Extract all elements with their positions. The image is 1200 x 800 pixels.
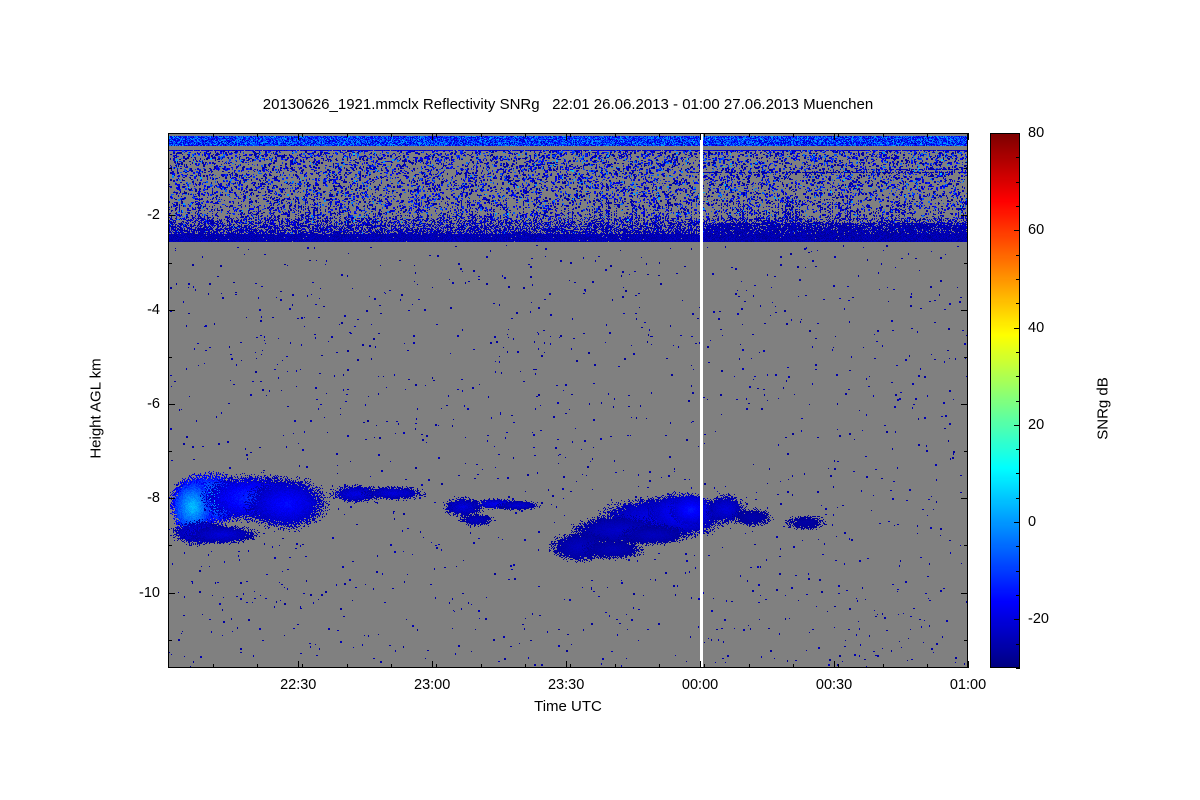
x-minor-tick — [570, 133, 571, 137]
y-minor-tick — [168, 357, 172, 358]
colorbar-minor-tick — [1016, 546, 1020, 547]
y-major-tick — [168, 215, 175, 216]
x-minor-tick — [883, 133, 884, 137]
colorbar-minor-tick — [1016, 279, 1020, 280]
y-minor-tick — [168, 451, 172, 452]
x-minor-tick — [570, 664, 571, 668]
colorbar-label: SNRg dB — [1095, 309, 1112, 509]
x-major-tick — [834, 661, 835, 668]
x-minor-tick — [347, 664, 348, 668]
y-major-tick — [961, 498, 968, 499]
y-major-tick — [961, 215, 968, 216]
colorbar-minor-tick — [1016, 376, 1020, 377]
x-tick-label: 00:30 — [816, 677, 852, 693]
y-minor-tick — [964, 263, 968, 264]
x-major-tick — [968, 133, 969, 140]
x-minor-tick — [257, 133, 258, 137]
x-major-tick — [700, 661, 701, 668]
colorbar-tick-label: 60 — [1028, 222, 1044, 238]
plot-area[interactable] — [168, 133, 968, 668]
colorbar-minor-tick — [1016, 449, 1020, 450]
y-minor-tick — [964, 451, 968, 452]
colorbar-minor-tick — [1016, 498, 1020, 499]
x-minor-tick — [615, 133, 616, 137]
x-axis-label: Time UTC — [168, 698, 968, 715]
x-minor-tick — [391, 664, 392, 668]
x-minor-tick — [391, 133, 392, 137]
colorbar-minor-tick — [1016, 303, 1020, 304]
x-minor-tick — [436, 664, 437, 668]
x-minor-tick — [927, 664, 928, 668]
x-major-tick — [566, 661, 567, 668]
y-minor-tick — [964, 168, 968, 169]
y-minor-tick — [964, 357, 968, 358]
x-tick-label: 01:00 — [950, 677, 986, 693]
x-minor-tick — [168, 664, 169, 668]
y-minor-tick — [168, 263, 172, 264]
colorbar-minor-tick — [1016, 595, 1020, 596]
x-major-tick — [700, 133, 701, 140]
colorbar-major-tick — [1014, 619, 1020, 620]
x-major-tick — [432, 661, 433, 668]
y-minor-tick — [168, 640, 172, 641]
x-minor-tick — [436, 133, 437, 137]
x-major-tick — [834, 133, 835, 140]
page-title: 20130626_1921.mmclx Reflectivity SNRg 22… — [168, 96, 968, 113]
x-minor-tick — [838, 664, 839, 668]
x-major-tick — [432, 133, 433, 140]
colorbar-minor-tick — [1016, 401, 1020, 402]
colorbar-minor-tick — [1016, 644, 1020, 645]
x-minor-tick — [927, 133, 928, 137]
colorbar-tick-label: 20 — [1028, 417, 1044, 433]
x-tick-label: 23:00 — [414, 677, 450, 693]
colorbar-minor-tick — [1016, 182, 1020, 183]
y-major-tick — [168, 498, 175, 499]
x-tick-label: 23:30 — [548, 677, 584, 693]
x-major-tick — [298, 661, 299, 668]
x-minor-tick — [302, 133, 303, 137]
reflectivity-heatmap — [169, 134, 968, 668]
y-tick-label: -2 — [116, 207, 160, 223]
colorbar-major-tick — [1014, 522, 1020, 523]
x-minor-tick — [525, 664, 526, 668]
y-axis-label: Height AGL km — [88, 309, 105, 509]
colorbar-minor-tick — [1016, 352, 1020, 353]
colorbar-minor-tick — [1016, 206, 1020, 207]
x-minor-tick — [659, 133, 660, 137]
y-minor-tick — [168, 168, 172, 169]
x-minor-tick — [481, 664, 482, 668]
colorbar-minor-tick — [1016, 571, 1020, 572]
x-minor-tick — [883, 664, 884, 668]
y-tick-label: -10 — [116, 585, 160, 601]
x-minor-tick — [257, 664, 258, 668]
y-major-tick — [168, 310, 175, 311]
x-tick-label: 00:00 — [682, 677, 718, 693]
y-major-tick — [961, 310, 968, 311]
y-major-tick — [961, 404, 968, 405]
x-tick-label: 22:30 — [280, 677, 316, 693]
radar-figure: 20130626_1921.mmclx Reflectivity SNRg 22… — [0, 0, 1200, 800]
y-major-tick — [168, 593, 175, 594]
x-minor-tick — [213, 133, 214, 137]
x-minor-tick — [481, 133, 482, 137]
x-major-tick — [968, 661, 969, 668]
x-minor-tick — [168, 133, 169, 137]
x-minor-tick — [704, 133, 705, 137]
y-major-tick — [168, 404, 175, 405]
colorbar-minor-tick — [1016, 473, 1020, 474]
x-minor-tick — [749, 664, 750, 668]
x-minor-tick — [793, 664, 794, 668]
colorbar-minor-tick — [1016, 255, 1020, 256]
x-minor-tick — [213, 664, 214, 668]
x-minor-tick — [659, 664, 660, 668]
x-major-tick — [298, 133, 299, 140]
x-minor-tick — [704, 664, 705, 668]
x-minor-tick — [749, 133, 750, 137]
x-minor-tick — [793, 133, 794, 137]
x-minor-tick — [302, 664, 303, 668]
x-minor-tick — [347, 133, 348, 137]
colorbar-minor-tick — [1016, 157, 1020, 158]
y-tick-label: -4 — [116, 302, 160, 318]
y-minor-tick — [964, 545, 968, 546]
x-minor-tick — [615, 664, 616, 668]
colorbar-major-tick — [1014, 133, 1020, 134]
x-major-tick — [566, 133, 567, 140]
colorbar-minor-tick — [1016, 668, 1020, 669]
y-minor-tick — [964, 640, 968, 641]
colorbar-major-tick — [1014, 425, 1020, 426]
y-tick-label: -8 — [116, 490, 160, 506]
colorbar-major-tick — [1014, 328, 1020, 329]
y-minor-tick — [168, 545, 172, 546]
y-major-tick — [961, 593, 968, 594]
colorbar-tick-label: 40 — [1028, 320, 1044, 336]
colorbar-tick-label: -20 — [1028, 611, 1049, 627]
colorbar-tick-label: 0 — [1028, 514, 1036, 530]
colorbar-major-tick — [1014, 230, 1020, 231]
x-minor-tick — [525, 133, 526, 137]
x-minor-tick — [838, 133, 839, 137]
y-tick-label: -6 — [116, 396, 160, 412]
colorbar-tick-label: 80 — [1028, 125, 1044, 141]
